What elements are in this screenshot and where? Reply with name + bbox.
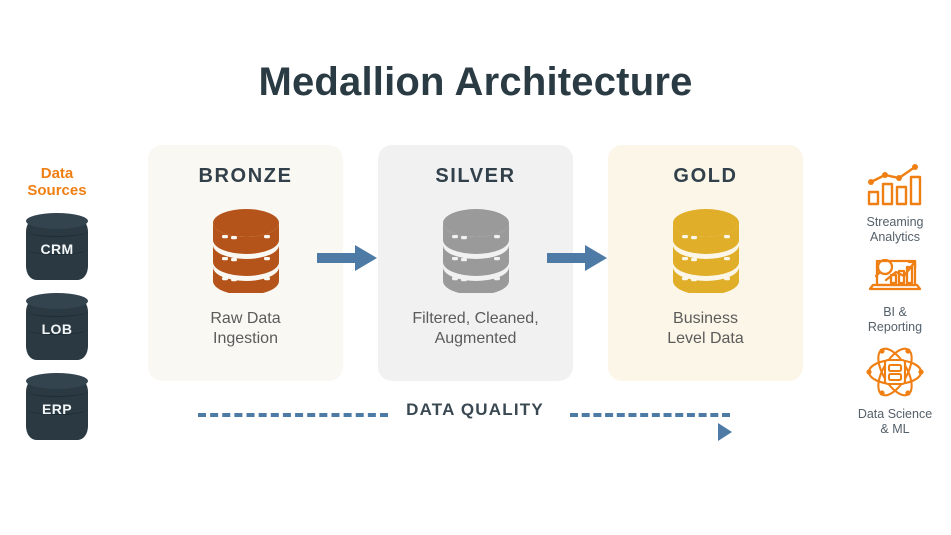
data-sources-label-line2: Sources — [14, 182, 100, 199]
consumer-label: BI & Reporting — [845, 305, 945, 335]
laptop-analytics-icon — [845, 252, 945, 301]
layer-caption-line1: Raw Data — [154, 309, 337, 329]
database-stack-icon — [667, 207, 745, 298]
consumer-label: Streaming Analytics — [845, 215, 945, 245]
layer-title-bronze: BRONZE — [148, 165, 343, 188]
data-source-erp[interactable]: ERP — [26, 378, 88, 440]
consumer-label-line2: Analytics — [845, 230, 945, 245]
consumer-label-line1: BI & — [845, 305, 945, 320]
consumer-label-line2: Reporting — [845, 320, 945, 335]
layer-caption-silver: Filtered, Cleaned, Augmented — [384, 309, 567, 349]
consumer-label: Data Science & ML — [845, 407, 945, 437]
layer-title-silver: SILVER — [378, 165, 573, 188]
data-source-label: ERP — [26, 378, 88, 440]
data-source-lob[interactable]: LOB — [26, 298, 88, 360]
layer-panel-gold[interactable]: GOLD — [608, 145, 803, 381]
page-title: Medallion Architecture — [0, 60, 951, 105]
flow-arrow-silver-to-gold — [547, 243, 607, 273]
flow-arrow-bronze-to-silver — [317, 243, 377, 273]
consumer-label-line1: Data Science — [845, 407, 945, 422]
data-quality-dashed-line-left — [198, 413, 388, 417]
database-stack-icon — [437, 207, 515, 298]
data-source-crm[interactable]: CRM — [26, 218, 88, 280]
consumer-label-line1: Streaming — [845, 215, 945, 230]
layer-panel-bronze[interactable]: BRONZE — [148, 145, 343, 381]
data-source-label: CRM — [26, 218, 88, 280]
data-quality-dashed-line-right — [570, 413, 730, 417]
layer-caption-line1: Business — [614, 309, 797, 329]
layer-caption-line1: Filtered, Cleaned, — [384, 309, 567, 329]
database-stack-icon — [207, 207, 285, 298]
bar-chart-trend-icon — [845, 162, 945, 211]
data-quality-label: DATA QUALITY — [396, 400, 554, 420]
diagram-canvas: Medallion Architecture Data Sources CRM … — [0, 0, 951, 535]
layer-title-gold: GOLD — [608, 165, 803, 188]
consumer-streaming-analytics[interactable]: Streaming Analytics — [845, 162, 945, 245]
data-quality-arrowhead-icon — [718, 423, 732, 441]
data-sources-label-line1: Data — [14, 165, 100, 182]
layer-caption-bronze: Raw Data Ingestion — [154, 309, 337, 349]
data-source-label: LOB — [26, 298, 88, 360]
data-sources-label: Data Sources — [14, 165, 100, 199]
consumer-data-science-ml[interactable]: Data Science & ML — [845, 346, 945, 437]
consumer-label-line2: & ML — [845, 422, 945, 437]
layer-caption-gold: Business Level Data — [614, 309, 797, 349]
layer-caption-line2: Augmented — [384, 329, 567, 349]
atom-database-icon — [845, 346, 945, 403]
data-quality-band: DATA QUALITY — [190, 400, 760, 430]
layer-panel-silver[interactable]: SILVER — [378, 145, 573, 381]
layer-caption-line2: Level Data — [614, 329, 797, 349]
layer-caption-line2: Ingestion — [154, 329, 337, 349]
consumer-bi-reporting[interactable]: BI & Reporting — [845, 252, 945, 335]
